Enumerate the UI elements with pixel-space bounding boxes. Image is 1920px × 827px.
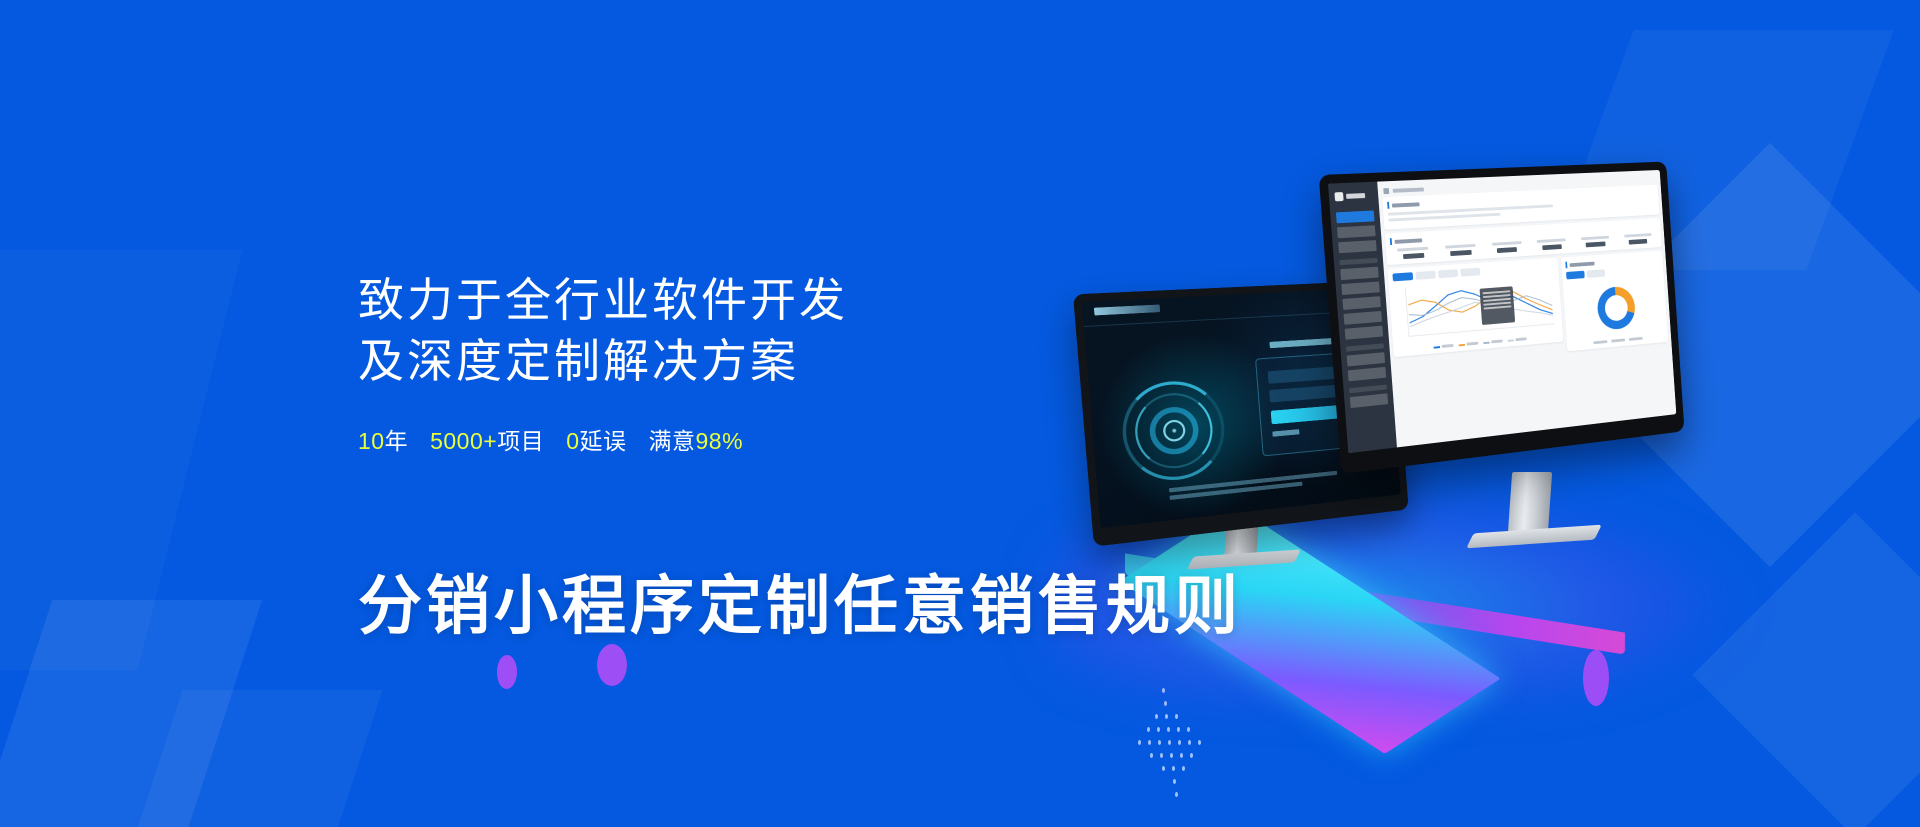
hero-headline: 致力于全行业软件开发 及深度定制解决方案 bbox=[358, 270, 1118, 392]
sidebar-item-5[interactable] bbox=[1341, 281, 1379, 295]
kpi-6 bbox=[1618, 233, 1657, 245]
tech-circle-icon bbox=[1119, 378, 1228, 485]
kpi-3 bbox=[1485, 241, 1528, 254]
stat-satisfaction-label: 满意 bbox=[649, 428, 696, 454]
right-monitor bbox=[1319, 162, 1685, 475]
decor-dot-purple-bottom-center bbox=[597, 644, 627, 686]
hero-banner: 致力于全行业软件开发 及深度定制解决方案 10年5000+项目0延误满意98% … bbox=[0, 0, 1920, 827]
brand-logo-icon bbox=[1334, 192, 1343, 201]
decor-parallelogram-bottom-left bbox=[0, 600, 262, 827]
hero-copy: 致力于全行业软件开发 及深度定制解决方案 10年5000+项目0延误满意98% bbox=[358, 270, 1118, 456]
kpi-1 bbox=[1391, 246, 1436, 260]
stat-delay-unit: 延误 bbox=[580, 428, 627, 454]
tab-4[interactable] bbox=[1460, 268, 1480, 277]
stat-years-number: 10 bbox=[358, 428, 385, 454]
sidebar-group-3 bbox=[1349, 385, 1387, 394]
donut-chart bbox=[1567, 276, 1664, 341]
sidebar-item-7[interactable] bbox=[1344, 311, 1382, 325]
donut-tab-2[interactable] bbox=[1587, 269, 1606, 278]
line-chart-svg bbox=[1393, 274, 1558, 346]
stat-projects-unit: 项目 bbox=[497, 428, 544, 454]
sidebar-item-9[interactable] bbox=[1347, 352, 1385, 366]
sidebar-group-2 bbox=[1346, 343, 1384, 351]
sidebar-item-3[interactable] bbox=[1338, 240, 1377, 253]
home-icon bbox=[1383, 188, 1389, 194]
kpi-5 bbox=[1575, 235, 1616, 248]
sidebar-item-11[interactable] bbox=[1350, 393, 1388, 408]
sidebar-item-home[interactable] bbox=[1336, 210, 1375, 223]
sidebar-group-1 bbox=[1340, 258, 1378, 265]
dashboard-screen bbox=[1328, 170, 1676, 453]
decor-parallelogram-left-upper bbox=[0, 250, 242, 670]
donut-tab-1[interactable] bbox=[1566, 271, 1585, 280]
right-monitor-neck bbox=[1508, 472, 1552, 534]
right-monitor-bezel bbox=[1319, 162, 1685, 475]
kpi-4 bbox=[1531, 238, 1573, 251]
dashboard-brand bbox=[1328, 186, 1379, 209]
tab-1[interactable] bbox=[1392, 272, 1413, 281]
stat-years-unit: 年 bbox=[385, 428, 409, 454]
chart-tooltip bbox=[1480, 286, 1516, 325]
breadcrumb-text bbox=[1393, 187, 1424, 192]
sidebar-item-8[interactable] bbox=[1345, 326, 1383, 340]
stat-satisfaction-number: 98% bbox=[696, 428, 744, 454]
sidebar-item-4[interactable] bbox=[1340, 267, 1379, 280]
login-helper-link[interactable] bbox=[1272, 429, 1299, 437]
decor-dot-purple-bottom-left bbox=[497, 655, 517, 689]
decor-parallelogram-bottom-left-2 bbox=[118, 690, 383, 827]
headline-line-2: 及深度定制解决方案 bbox=[358, 331, 1118, 392]
tab-3[interactable] bbox=[1438, 269, 1458, 278]
sidebar-item-2[interactable] bbox=[1337, 225, 1376, 238]
line-chart-card bbox=[1387, 258, 1563, 358]
donut-chart-card bbox=[1561, 251, 1668, 352]
headline-line-1: 致力于全行业软件开发 bbox=[358, 270, 1118, 331]
tab-2[interactable] bbox=[1415, 271, 1436, 280]
stat-projects-number: 5000+ bbox=[430, 428, 497, 454]
sidebar-item-10[interactable] bbox=[1348, 367, 1386, 381]
dashboard-content bbox=[1377, 170, 1676, 447]
right-monitor-foot bbox=[1466, 525, 1602, 549]
hero-big-title: 分销小程序定制任意销售规则 bbox=[358, 555, 1242, 647]
decor-dot-grid bbox=[1132, 688, 1202, 808]
stat-delay-number: 0 bbox=[566, 428, 579, 454]
kpi-2 bbox=[1439, 243, 1483, 256]
sidebar-item-6[interactable] bbox=[1342, 296, 1380, 310]
line-chart bbox=[1393, 274, 1558, 346]
brand-name bbox=[1346, 193, 1365, 199]
hero-stats: 10年5000+项目0延误满意98% bbox=[358, 422, 1118, 456]
